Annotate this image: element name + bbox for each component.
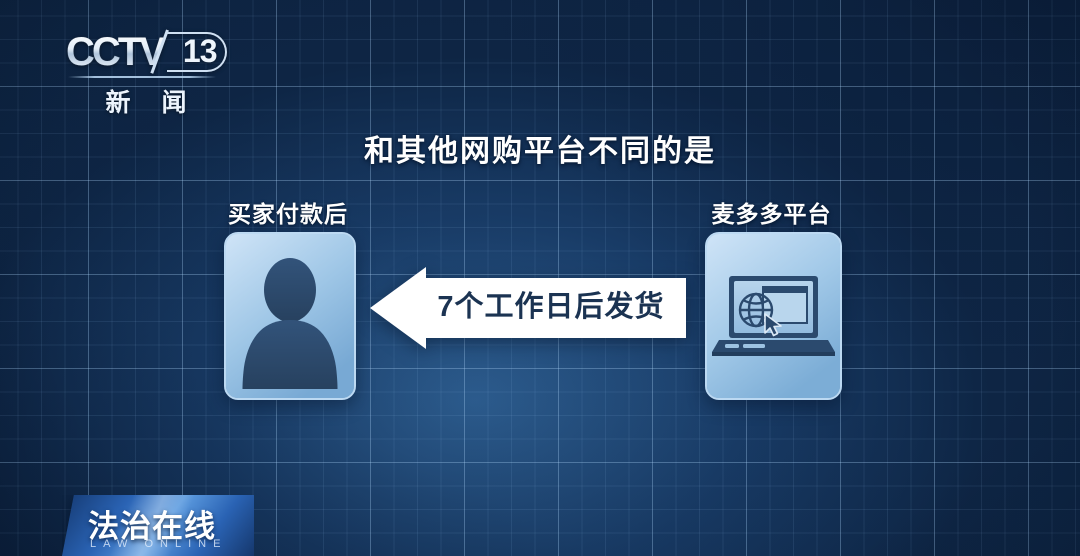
platform-icon-panel (705, 232, 842, 400)
channel-number-badge: 13 (167, 32, 228, 72)
arrow-label: 7个工作日后发货 (426, 283, 676, 325)
broadcast-graphic-stage: CCTV 13 新 闻 和其他网购平台不同的是 买家付款后 (0, 0, 1080, 556)
person-silhouette-icon (226, 234, 354, 398)
channel-logo: CCTV 13 新 闻 (66, 32, 226, 119)
program-name-en: LAW ONLINE (90, 538, 246, 550)
laptop-globe-icon (707, 234, 840, 398)
cctv-logo-row: CCTV 13 (66, 32, 226, 72)
buyer-icon-panel (224, 232, 356, 400)
channel-subtitle: 新 闻 (66, 83, 226, 119)
page-title: 和其他网购平台不同的是 (0, 126, 1080, 170)
platform-node-label: 麦多多平台 (705, 195, 838, 229)
logo-underline-rule (68, 76, 216, 78)
buyer-node-label: 买家付款后 (224, 195, 352, 229)
program-logo: 法治在线 LAW ONLINE (62, 495, 254, 556)
cctv-wordmark: CCTV (66, 32, 163, 72)
channel-number: 13 (183, 33, 217, 69)
